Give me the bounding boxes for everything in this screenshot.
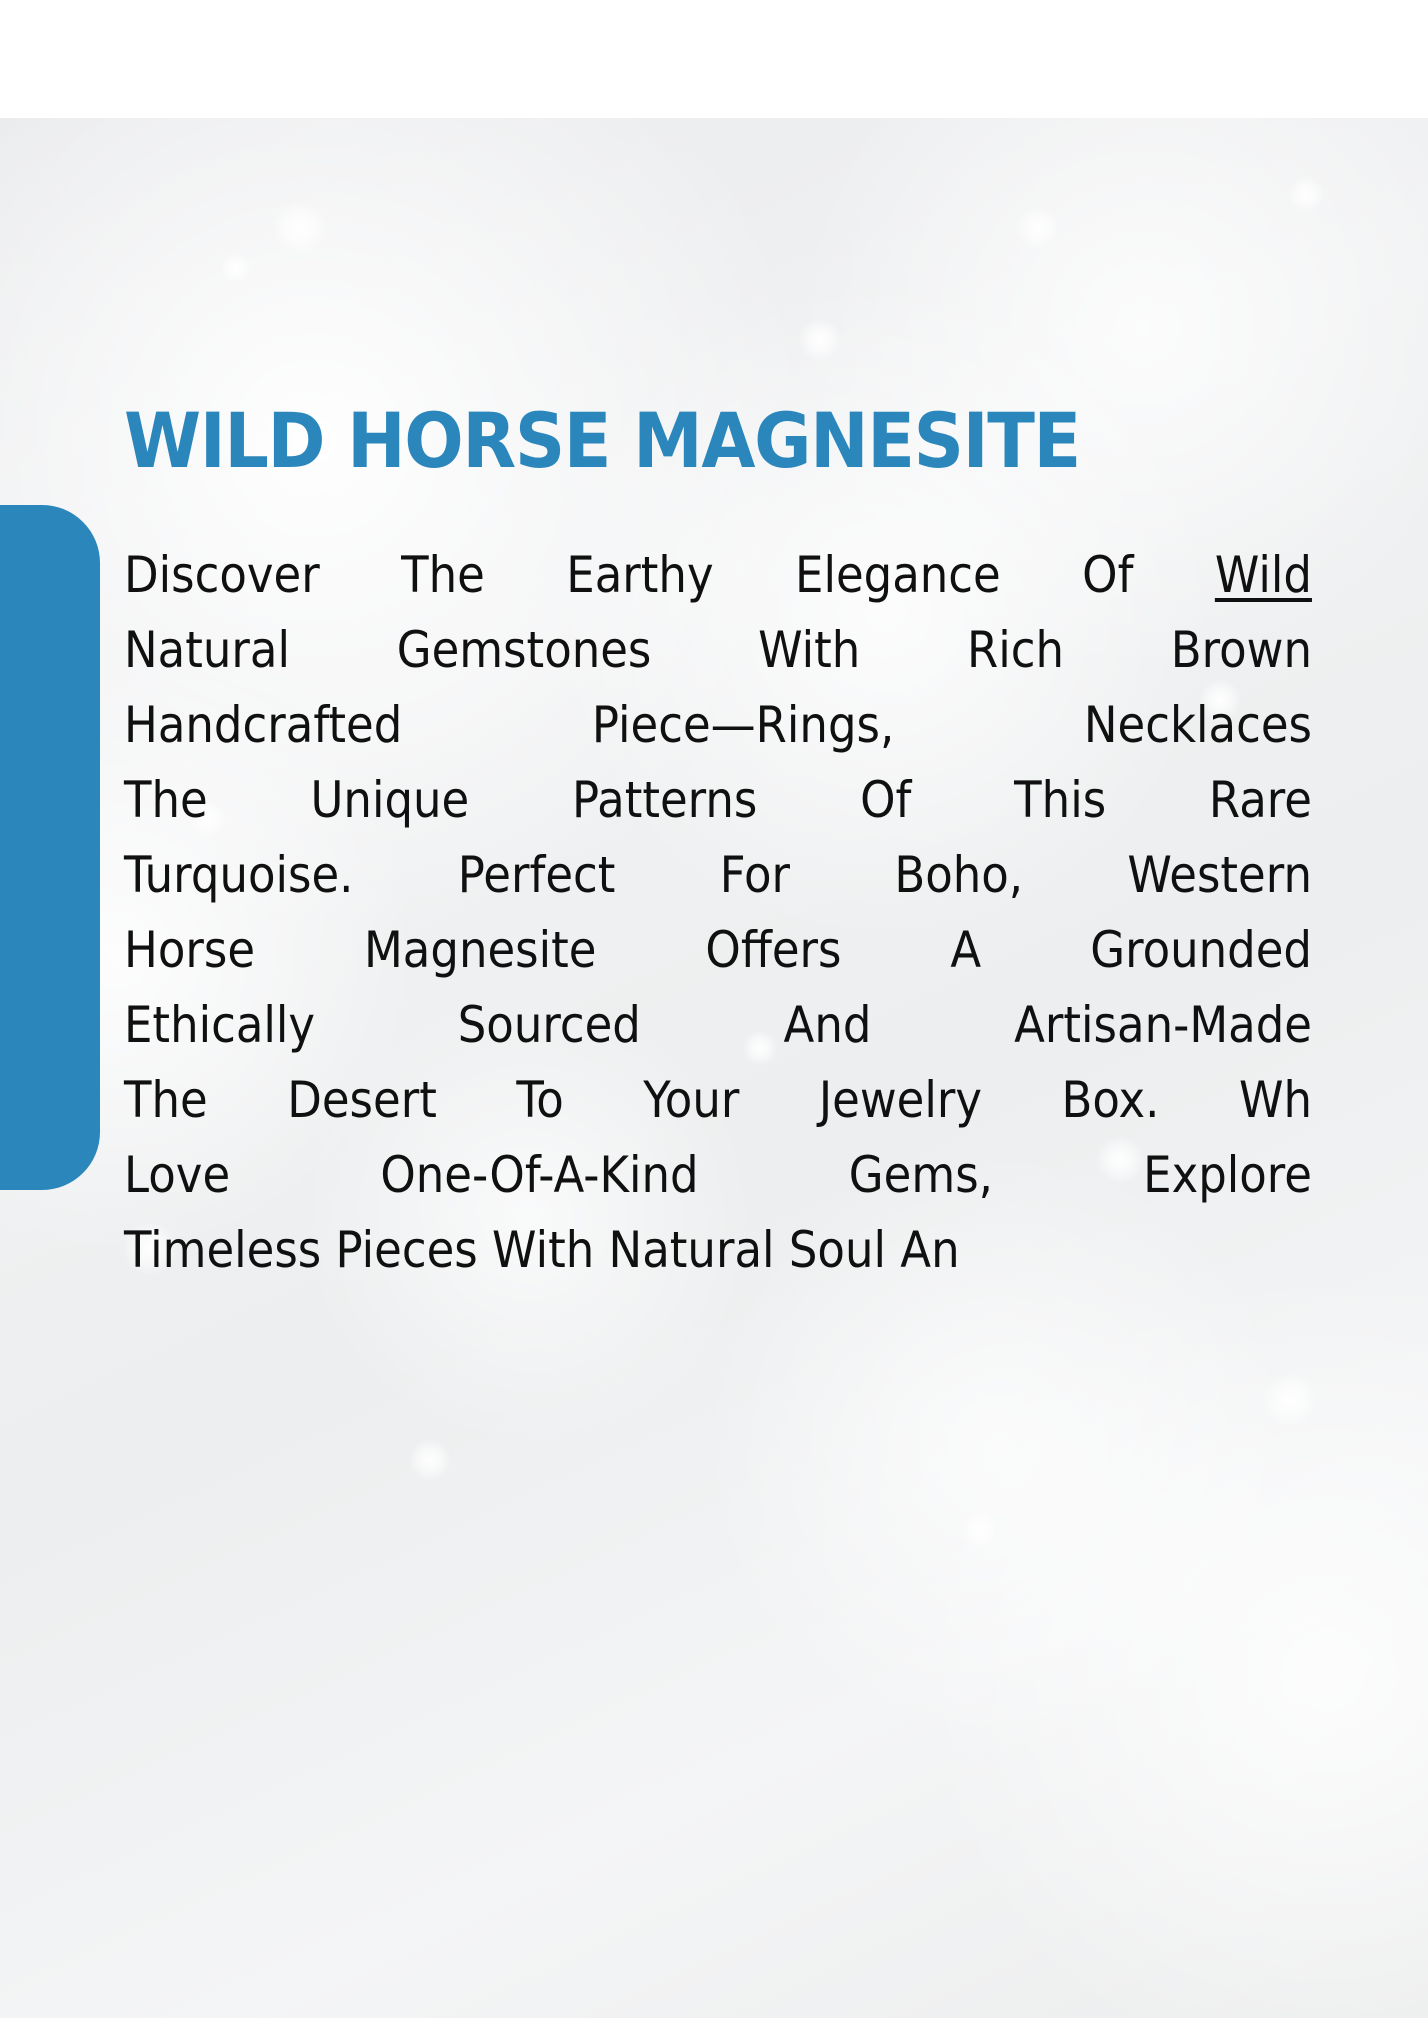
banner-stage: WILD HORSE MAGNESITE Discover The Earthy…	[0, 0, 1428, 2018]
body-word: Earthy	[566, 538, 713, 613]
body-word: Turquoise.	[124, 838, 353, 913]
body-word: Artisan-Made	[1014, 988, 1312, 1063]
body-word: The	[401, 538, 485, 613]
body-word: Brown	[1171, 613, 1312, 688]
inline-keyword-link[interactable]: Wild	[1215, 538, 1312, 613]
body-line: The Unique Patterns Of This Rare	[124, 763, 1312, 838]
sparkle-dot	[273, 201, 327, 255]
body-word: With	[492, 1213, 594, 1288]
body-word: Sourced	[458, 988, 641, 1063]
body-word: Explore	[1143, 1138, 1312, 1213]
body-word: Western	[1127, 838, 1312, 913]
body-word: Gemstones	[397, 613, 652, 688]
body-word: A	[950, 913, 981, 988]
body-word: Soul	[789, 1213, 886, 1288]
body-word: Discover	[124, 538, 320, 613]
body-word: Magnesite	[364, 913, 596, 988]
body-word: Jewelry	[819, 1063, 982, 1138]
sparkle-dot	[962, 1512, 998, 1548]
body-word: Rare	[1209, 763, 1312, 838]
body-word: Horse	[124, 913, 255, 988]
body-word: Natural	[124, 613, 290, 688]
body-word: Offers	[705, 913, 841, 988]
body-paragraph: Discover The Earthy Elegance Of WildNatu…	[124, 538, 1312, 1288]
body-line: Love One-Of-A-Kind Gems, Explore	[124, 1138, 1312, 1213]
body-word: One-Of-A-Kind	[380, 1138, 698, 1213]
body-word: Desert	[287, 1063, 437, 1138]
body-word: Patterns	[572, 763, 757, 838]
body-word: Handcrafted	[124, 688, 402, 763]
body-word: Box.	[1061, 1063, 1159, 1138]
sparkle-dot	[409, 1439, 451, 1481]
body-word: The	[124, 1063, 208, 1138]
body-word: Wh	[1239, 1063, 1312, 1138]
body-word: Ethically	[124, 988, 315, 1063]
body-word: And	[784, 988, 872, 1063]
body-line: Turquoise. Perfect For Boho, Western	[124, 838, 1312, 913]
body-word: Boho,	[894, 838, 1023, 913]
body-line: Handcrafted Piece—Rings, Necklaces	[124, 688, 1312, 763]
sparkle-dot	[221, 253, 251, 283]
body-line: Ethically Sourced And Artisan-Made	[124, 988, 1312, 1063]
body-line: Natural Gemstones With Rich Brown	[124, 613, 1312, 688]
body-word: Of	[1082, 538, 1133, 613]
body-word: An	[900, 1213, 959, 1288]
body-word: Your	[643, 1063, 739, 1138]
sparkle-dot	[1288, 177, 1324, 213]
body-word: Perfect	[458, 838, 616, 913]
body-word: Grounded	[1090, 913, 1312, 988]
body-word: Necklaces	[1084, 688, 1312, 763]
body-word: Gems,	[849, 1138, 993, 1213]
body-line: Horse Magnesite Offers A Grounded	[124, 913, 1312, 988]
body-line: Timeless Pieces With Natural Soul An	[124, 1213, 1312, 1288]
body-line: The Desert To Your Jewelry Box. Wh	[124, 1063, 1312, 1138]
body-line: Discover The Earthy Elegance Of Wild	[124, 538, 1312, 613]
body-word: Elegance	[795, 538, 1001, 613]
body-word: Love	[124, 1138, 230, 1213]
body-word: Timeless	[124, 1213, 321, 1288]
body-word: Natural	[609, 1213, 775, 1288]
body-word: Piece—Rings,	[592, 688, 894, 763]
body-word: Pieces	[336, 1213, 478, 1288]
sparkle-dot	[1263, 1373, 1317, 1427]
page-title: WILD HORSE MAGNESITE	[124, 403, 1412, 479]
body-word: Rich	[967, 613, 1064, 688]
body-word: This	[1014, 763, 1106, 838]
body-word: The	[124, 763, 208, 838]
sparkle-dot	[799, 319, 841, 361]
left-accent-bar	[0, 505, 100, 1190]
body-word: With	[758, 613, 860, 688]
sparkle-dot	[1017, 207, 1059, 249]
body-word: Unique	[310, 763, 469, 838]
body-word: Of	[860, 763, 911, 838]
body-word: For	[720, 838, 790, 913]
body-word: To	[516, 1063, 563, 1138]
